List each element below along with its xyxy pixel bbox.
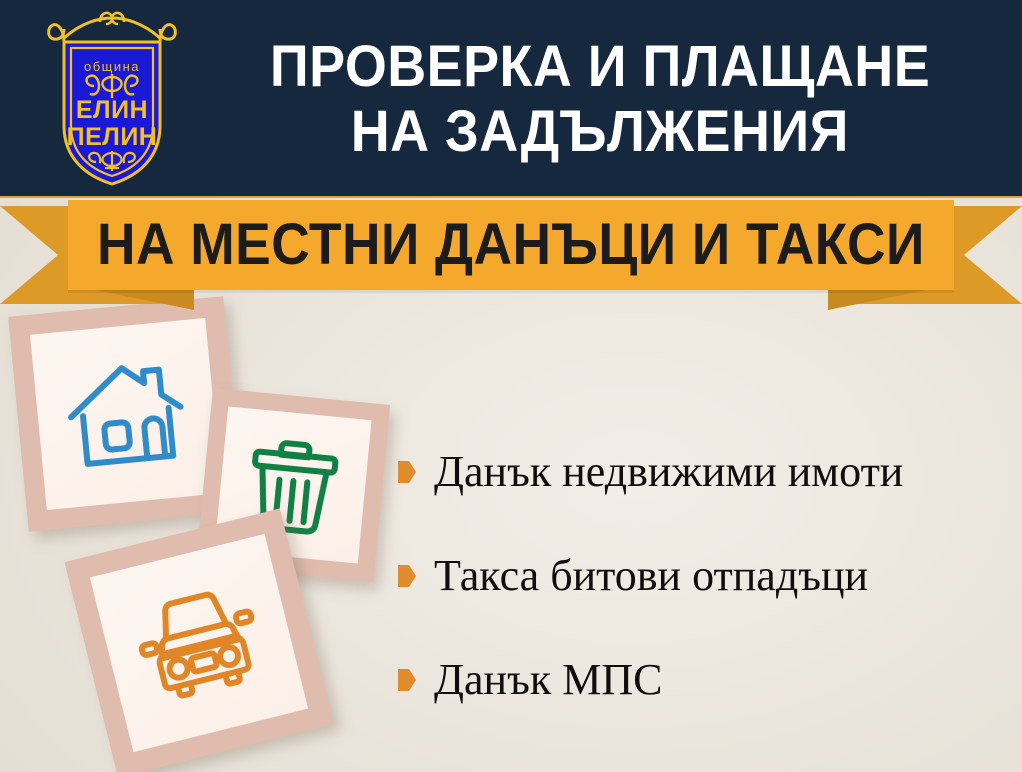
list-item[interactable]: Данък МПС — [398, 628, 1008, 732]
tax-type-label: Данък недвижими имоти — [434, 450, 903, 494]
bullet-arrow-icon — [398, 565, 416, 587]
tax-type-list: Данък недвижими имоти Такса битови отпад… — [398, 420, 1008, 732]
promo-banner: община ЕЛИН ПЕЛИН ПРОВЕРКА И ПЛАЩАНЕ Н — [0, 0, 1022, 772]
ribbon-banner: НА МЕСТНИ ДАНЪЦИ И ТАКСИ — [0, 196, 1022, 314]
municipality-shield-crest-icon: община ЕЛИН ПЕЛИН — [42, 8, 182, 190]
tax-type-label: Данък МПС — [434, 658, 662, 702]
list-item[interactable]: Такса битови отпадъци — [398, 524, 1008, 628]
ribbon-subtitle: НА МЕСТНИ ДАНЪЦИ И ТАКСИ — [97, 216, 925, 274]
stamp-card-group — [0, 300, 420, 772]
page-title-line-2: НА ЗАДЪЛЖЕНИЯ — [351, 100, 849, 165]
ribbon-plate: НА МЕСТНИ ДАНЪЦИ И ТАКСИ — [68, 200, 954, 290]
header-title-block: ПРОВЕРКА И ПЛАЩАНЕ НА ЗАДЪЛЖЕНИЯ — [186, 16, 1014, 184]
bullet-arrow-icon — [398, 461, 416, 483]
list-item[interactable]: Данък недвижими имоти — [398, 420, 1008, 524]
tax-type-label: Такса битови отпадъци — [434, 554, 868, 598]
bullet-arrow-icon — [398, 669, 416, 691]
svg-text:ЕЛИН: ЕЛИН — [76, 96, 148, 124]
svg-text:община: община — [84, 59, 140, 74]
svg-text:ПЕЛИН: ПЕЛИН — [67, 123, 158, 151]
page-title-line-1: ПРОВЕРКА И ПЛАЩАНЕ — [270, 35, 930, 100]
